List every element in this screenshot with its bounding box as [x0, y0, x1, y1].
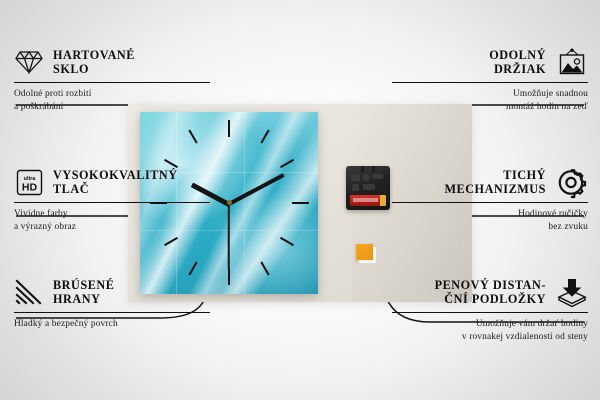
feature-desc-line2: v rovnakej vzdialenosti od steny — [392, 331, 588, 344]
feature-header: ODOLNÝ DRŽIAK — [392, 47, 588, 77]
feature-title-line1: BRÚSENÉ — [53, 278, 114, 292]
svg-text:HD: HD — [21, 181, 37, 193]
ultra-hd-icon: ultra HD — [14, 167, 44, 197]
clock-second-hand — [228, 204, 230, 270]
divider — [14, 312, 210, 313]
picture-hanger-icon — [555, 47, 588, 77]
feature-title: VYSOKOKVALITNÝ TLAČ — [53, 168, 178, 197]
feature-header: PENOVÝ DISTAN- ČNÍ PODLOŽKY — [392, 277, 588, 307]
feature-title-line2: MECHANIZMUS — [444, 182, 546, 196]
mechanism-detail — [351, 174, 360, 181]
mechanism-detail — [363, 174, 369, 181]
feature-header: TICHÝ MECHANIZMUS — [392, 167, 588, 197]
feature-desc-line2: montáž hodin na zeď — [392, 101, 588, 114]
battery-terminal — [380, 195, 386, 206]
mechanism-detail — [352, 184, 359, 191]
feature-desc-line2: a výrazný obraz — [14, 221, 210, 234]
feature-description: Umožňuje snadnou montáž hodin na zeď — [392, 88, 588, 114]
feature-foam-spacers: PENOVÝ DISTAN- ČNÍ PODLOŽKY Umožňuje vám… — [392, 277, 588, 344]
feature-desc-line2: bez zvuku — [392, 221, 588, 234]
infographic-canvas: HARTOVANÉ SKLO Odolné proti rozbití a po… — [0, 0, 600, 400]
feature-title: ODOLNÝ DRŽIAK — [489, 48, 546, 77]
mechanism-detail — [373, 174, 383, 179]
feature-description: Odolné proti rozbití a poškrábání — [14, 88, 210, 114]
feature-description: Hodinové ručičky bez zvuku — [392, 208, 588, 234]
feature-desc-line1: Hladký a bezpečný povrch — [14, 318, 210, 331]
feature-description: Hladký a bezpečný povrch — [14, 318, 210, 331]
glass-seam — [244, 112, 245, 294]
diamond-icon — [14, 47, 44, 77]
foam-spacer-icon — [555, 277, 588, 307]
mechanism-detail — [363, 184, 375, 190]
feature-tempered-glass: HARTOVANÉ SKLO Odolné proti rozbití a po… — [14, 47, 210, 114]
divider — [14, 202, 210, 203]
feature-header: ultra HD VYSOKOKVALITNÝ TLAČ — [14, 167, 210, 197]
battery — [350, 195, 386, 206]
feature-high-quality-print: ultra HD VYSOKOKVALITNÝ TLAČ Vivídne far… — [14, 167, 210, 234]
feature-title-line1: ODOLNÝ — [489, 48, 546, 62]
feature-header: BRÚSENÉ HRANY — [14, 277, 210, 307]
feature-title-line2: ČNÍ PODLOŽKY — [435, 292, 546, 306]
feature-title-line1: TICHÝ — [444, 168, 546, 182]
clock-center-pivot — [227, 200, 232, 205]
feature-title: PENOVÝ DISTAN- ČNÍ PODLOŽKY — [435, 278, 546, 307]
feature-silent-mechanism: TICHÝ MECHANIZMUS Hodinové ručičky bez z… — [392, 167, 588, 234]
feature-durable-holder: ODOLNÝ DRŽIAK Umožňuje snadnou montáž ho… — [392, 47, 588, 114]
divider — [392, 82, 588, 83]
clock-tick — [228, 268, 230, 285]
beveled-edges-icon — [14, 277, 44, 307]
feature-description: Umožňuje vám držať hodiny v rovnakej vzd… — [392, 318, 588, 344]
feature-header: HARTOVANÉ SKLO — [14, 47, 210, 77]
clock-tick — [292, 202, 309, 204]
feature-desc-line1: Vivídne farby — [14, 208, 210, 221]
feature-desc-line1: Umožňuje vám držať hodiny — [392, 318, 588, 331]
feature-title-line2: DRŽIAK — [489, 62, 546, 76]
feature-title: HARTOVANÉ SKLO — [53, 48, 135, 77]
feature-title-line2: SKLO — [53, 62, 135, 76]
clock-mechanism — [346, 166, 390, 210]
feature-desc-line1: Umožňuje snadnou — [392, 88, 588, 101]
feature-desc-line2: a poškrábání — [14, 101, 210, 114]
feature-title: TICHÝ MECHANIZMUS — [444, 168, 546, 197]
feature-title-line2: HRANY — [53, 292, 114, 306]
battery-label — [353, 198, 378, 202]
divider — [14, 82, 210, 83]
feature-desc-line1: Odolné proti rozbití — [14, 88, 210, 101]
foam-spacer-pad — [356, 244, 373, 260]
gear-icon — [555, 167, 588, 197]
feature-title: BRÚSENÉ HRANY — [53, 278, 114, 307]
feature-beveled-edges: BRÚSENÉ HRANY Hladký a bezpečný povrch — [14, 277, 210, 331]
clock-tick — [228, 120, 230, 137]
feature-title-line2: TLAČ — [53, 182, 178, 196]
divider — [392, 312, 588, 313]
feature-description: Vivídne farby a výrazný obraz — [14, 208, 210, 234]
feature-title-line1: HARTOVANÉ — [53, 48, 135, 62]
hanger-hook-icon — [361, 166, 375, 172]
divider — [392, 202, 588, 203]
feature-title-line1: PENOVÝ DISTAN- — [435, 278, 546, 292]
feature-desc-line1: Hodinové ručičky — [392, 208, 588, 221]
feature-title-line1: VYSOKOKVALITNÝ — [53, 168, 178, 182]
